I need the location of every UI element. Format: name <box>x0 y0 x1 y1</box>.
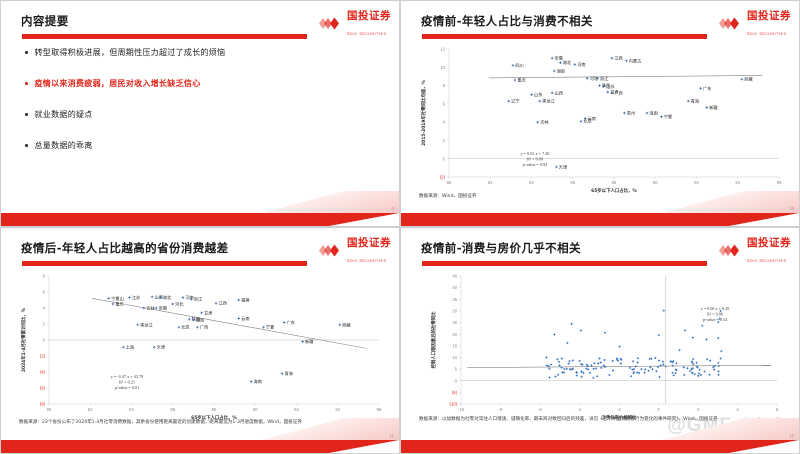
svg-text:北京: 北京 <box>181 324 189 331</box>
bullet-dot-icon <box>25 51 28 54</box>
footer-triangle <box>329 440 399 453</box>
svg-text:35: 35 <box>452 297 457 302</box>
svg-text:-4: -4 <box>578 407 582 412</box>
scatter-plot: 86420(2)(4)(6)(8)80828486889092949665岁以下… <box>15 270 387 420</box>
svg-text:-6: -6 <box>538 407 542 412</box>
svg-text:-2: -2 <box>617 407 621 412</box>
title-rule <box>22 261 307 266</box>
svg-text:80: 80 <box>447 180 452 185</box>
svg-text:江西: 江西 <box>614 55 622 62</box>
svg-text:黑龙江: 黑龙江 <box>140 321 153 328</box>
svg-text:(4): (4) <box>40 370 46 375</box>
svg-text:浙江: 浙江 <box>194 296 202 303</box>
svg-text:8: 8 <box>443 83 446 88</box>
svg-text:重庆: 重庆 <box>115 301 124 308</box>
footer-bar <box>401 440 799 453</box>
title-rule <box>422 34 707 39</box>
svg-text:6: 6 <box>443 101 446 106</box>
bullet-list: 转型取得积极进展，但周期性压力超过了成长的烦恼 疫情以来消费疲弱，居民对收入增长… <box>25 47 365 171</box>
svg-text:山西: 山西 <box>555 89 563 96</box>
svg-text:y = -0.47 x + 43.79: y = -0.47 x + 43.79 <box>111 374 143 379</box>
svg-text:西藏: 西藏 <box>744 76 753 83</box>
svg-text:湖南: 湖南 <box>196 317 204 324</box>
svg-text:西藏: 西藏 <box>342 321 351 328</box>
svg-text:92: 92 <box>294 407 299 412</box>
svg-text:吉林: 吉林 <box>146 305 155 312</box>
svg-text:96: 96 <box>377 407 382 412</box>
svg-text:10: 10 <box>452 355 457 360</box>
svg-text:p-value = 0.01: p-value = 0.01 <box>115 385 139 390</box>
svg-text:山东: 山东 <box>534 91 542 98</box>
svg-text:92: 92 <box>694 180 699 185</box>
chart-pre-covid-housing: 454035302520151050(5)(10)-10-8-6-4-20246… <box>415 270 787 420</box>
svg-text:(5): (5) <box>452 390 458 395</box>
svg-text:江西: 江西 <box>218 300 226 307</box>
svg-text:86: 86 <box>170 407 175 412</box>
svg-text:重庆: 重庆 <box>517 77 526 84</box>
svg-text:R² = 0.00: R² = 0.00 <box>527 157 543 162</box>
footer-swash <box>654 191 799 213</box>
svg-text:控制人口等因素后的社零同比: 控制人口等因素后的社零同比 <box>430 311 437 369</box>
svg-text:y = 0.02 x + 7.20: y = 0.02 x + 7.20 <box>521 151 550 156</box>
slide-pre-covid-housing[interactable]: 疫情前-消费与房价几乎不相关 国投证券 SDIC SECURITIES 4540… <box>400 227 800 454</box>
svg-text:上海: 上海 <box>126 344 135 351</box>
svg-text:广西: 广西 <box>614 89 622 96</box>
page-number: 12 <box>789 433 794 438</box>
svg-text:6: 6 <box>43 290 46 295</box>
logo-en: SDIC SECURITIES <box>347 259 386 263</box>
footer-swash <box>654 418 799 440</box>
list-item: 总量数据的乖离 <box>25 140 365 151</box>
sdic-diamond-icon <box>317 16 343 31</box>
svg-text:p-value = 0.54: p-value = 0.54 <box>703 317 728 322</box>
svg-text:新疆: 新疆 <box>305 338 313 345</box>
brand-logo: 国投证券 SDIC SECURITIES <box>317 234 391 266</box>
svg-text:96: 96 <box>777 180 782 185</box>
svg-text:北京: 北京 <box>583 118 591 125</box>
logo-text: 国投证券 SDIC SECURITIES <box>347 234 391 266</box>
bullet-text: 总量数据的乖离 <box>35 140 93 151</box>
svg-text:云南: 云南 <box>241 315 249 322</box>
svg-text:宁夏: 宁夏 <box>664 113 673 119</box>
bullet-text: 疫情以来消费疲弱，居民对收入增长缺乏信心 <box>35 78 201 89</box>
svg-text:10: 10 <box>440 65 445 70</box>
slide-grid: 内容提要 国投证券 SDIC SECURITIES 转型取得积 <box>0 0 800 454</box>
svg-text:-8: -8 <box>499 407 503 412</box>
svg-text:海南: 海南 <box>649 110 657 117</box>
chart-pre-covid-youth: 121086420(2)80828486889092949665岁以下人口占比，… <box>415 43 787 193</box>
svg-text:河南: 河南 <box>577 61 585 67</box>
list-item: 转型取得积极进展，但周期性压力超过了成长的烦恼 <box>25 47 365 58</box>
svg-text:0: 0 <box>43 338 46 343</box>
list-item: 疫情以来消费疲弱，居民对收入增长缺乏信心 <box>25 78 365 89</box>
svg-text:吉林: 吉林 <box>540 119 549 126</box>
svg-text:四川: 四川 <box>515 63 523 68</box>
svg-text:浙江: 浙江 <box>600 75 608 82</box>
svg-text:2015-2019年社零同比均值，%: 2015-2019年社零同比均值，% <box>420 80 427 146</box>
svg-text:5: 5 <box>455 367 458 372</box>
brand-logo: 国投证券 SDIC SECURITIES <box>717 234 791 266</box>
svg-text:90: 90 <box>253 407 258 412</box>
svg-text:30: 30 <box>452 309 457 314</box>
footer-bar <box>401 213 799 226</box>
logo-text: 国投证券 SDIC SECURITIES <box>747 234 791 266</box>
svg-text:贵州: 贵州 <box>627 110 635 117</box>
logo-cn: 国投证券 <box>747 10 791 22</box>
svg-text:82: 82 <box>488 180 493 185</box>
page-title: 疫情后-年轻人占比越高的省份消费越差 <box>21 240 228 256</box>
brand-logo: 国投证券 SDIC SECURITIES <box>317 7 391 39</box>
svg-text:4: 4 <box>43 306 46 311</box>
svg-text:天津: 天津 <box>559 163 567 170</box>
svg-text:湖北: 湖北 <box>163 294 172 301</box>
svg-text:0: 0 <box>657 407 660 412</box>
svg-text:广东: 广东 <box>703 85 711 92</box>
sdic-diamond-icon <box>717 16 743 31</box>
bullet-text: 转型取得积极进展，但周期性压力超过了成长的烦恼 <box>35 47 226 58</box>
svg-text:88: 88 <box>612 180 617 185</box>
scatter-plot: 454035302520151050(5)(10)-10-8-6-4-20246… <box>415 270 787 420</box>
svg-text:2: 2 <box>443 138 446 143</box>
svg-text:2: 2 <box>43 322 46 327</box>
svg-text:15: 15 <box>452 343 457 348</box>
page-number: 11 <box>389 433 394 438</box>
svg-text:湖北: 湖北 <box>563 59 572 66</box>
svg-text:河北: 河北 <box>175 301 184 308</box>
svg-text:0: 0 <box>455 378 458 383</box>
svg-text:广东: 广东 <box>287 319 295 326</box>
svg-text:内蒙古: 内蒙古 <box>629 57 642 64</box>
footer-triangle <box>329 213 399 226</box>
bullet-dot-icon <box>25 144 28 147</box>
logo-cn: 国投证券 <box>347 237 391 249</box>
svg-text:宁夏: 宁夏 <box>266 324 275 330</box>
svg-text:94: 94 <box>335 407 340 412</box>
list-item: 就业数据的疑点 <box>25 109 365 120</box>
svg-text:青海: 青海 <box>284 370 293 377</box>
svg-text:y = 0.06 x + 6.29: y = 0.06 x + 6.29 <box>701 306 730 311</box>
page-title: 疫情前-消费与房价几乎不相关 <box>421 240 581 256</box>
svg-text:(6): (6) <box>40 386 46 391</box>
page-title: 内容提要 <box>21 13 69 29</box>
sdic-diamond-icon <box>717 243 743 258</box>
svg-text:安徽: 安徽 <box>159 305 168 312</box>
svg-text:天津: 天津 <box>157 344 165 351</box>
footer-bar <box>1 440 399 453</box>
logo-cn: 国投证券 <box>747 237 791 249</box>
svg-text:黑龙江: 黑龙江 <box>542 98 555 105</box>
svg-text:90: 90 <box>653 180 658 185</box>
scatter-plot: 121086420(2)80828486889092949665岁以下人口占比，… <box>415 43 787 193</box>
svg-text:R² = 0.00: R² = 0.00 <box>707 312 723 317</box>
svg-text:(10): (10) <box>450 402 458 407</box>
svg-text:94: 94 <box>735 180 740 185</box>
svg-text:6: 6 <box>776 407 779 412</box>
footer-triangle <box>729 440 799 453</box>
footer-triangle <box>729 213 799 226</box>
svg-text:青海: 青海 <box>691 98 700 105</box>
logo-en: SDIC SECURITIES <box>747 259 786 263</box>
footer-swash <box>254 191 399 213</box>
svg-text:20: 20 <box>452 332 457 337</box>
svg-text:(2): (2) <box>440 175 446 180</box>
svg-text:4: 4 <box>443 120 446 125</box>
svg-text:甘肃: 甘肃 <box>204 309 212 316</box>
logo-text: 国投证券 SDIC SECURITIES <box>347 7 391 39</box>
footer-bar <box>1 213 399 226</box>
svg-text:(8): (8) <box>40 402 46 407</box>
svg-text:45: 45 <box>452 274 457 279</box>
svg-text:40: 40 <box>452 285 457 290</box>
svg-text:江苏: 江苏 <box>132 294 140 301</box>
svg-text:-10: -10 <box>458 407 465 412</box>
svg-text:65岁以下人口占比，%: 65岁以下人口占比，% <box>591 187 637 193</box>
logo-en: SDIC SECURITIES <box>347 32 386 36</box>
svg-text:4: 4 <box>736 407 739 412</box>
slide-pre-covid-youth[interactable]: 疫情前-年轻人占比与消费不相关 国投证券 SDIC SECURITIES 121… <box>400 0 800 227</box>
svg-text:80: 80 <box>47 407 52 412</box>
svg-text:2024年1-4月社零累计同比，%: 2024年1-4月社零累计同比，% <box>20 307 27 372</box>
bullet-dot-icon <box>25 113 28 116</box>
logo-text: 国投证券 SDIC SECURITIES <box>747 7 791 39</box>
svg-text:0: 0 <box>443 156 446 161</box>
svg-text:2: 2 <box>697 407 700 412</box>
svg-text:海南: 海南 <box>254 378 262 385</box>
svg-text:25: 25 <box>452 320 457 325</box>
svg-text:8: 8 <box>43 274 46 279</box>
svg-text:R² = 0.21: R² = 0.21 <box>119 380 135 385</box>
title-rule <box>22 34 307 39</box>
svg-text:84: 84 <box>129 407 134 412</box>
svg-text:p-value = 0.92: p-value = 0.92 <box>523 162 547 167</box>
brand-logo: 国投证券 SDIC SECURITIES <box>717 7 791 39</box>
svg-text:86: 86 <box>570 180 575 185</box>
footer-swash <box>254 418 399 440</box>
logo-cn: 国投证券 <box>347 10 391 22</box>
page-number: 16 <box>789 206 794 211</box>
chart-post-covid-youth: 86420(2)(4)(6)(8)80828486889092949665岁以下… <box>15 270 387 420</box>
bullet-dot-icon <box>25 82 28 85</box>
svg-text:84: 84 <box>529 180 534 185</box>
slide-post-covid-youth[interactable]: 疫情后-年轻人占比越高的省份消费越差 国投证券 SDIC SECURITIES … <box>0 227 400 454</box>
logo-en: SDIC SECURITIES <box>747 32 786 36</box>
svg-text:湖南: 湖南 <box>557 67 565 74</box>
svg-text:福建: 福建 <box>241 297 250 304</box>
page-number: 3 <box>391 206 394 211</box>
svg-text:辽宁: 辽宁 <box>511 98 519 105</box>
svg-text:12: 12 <box>440 47 445 52</box>
svg-text:广西: 广西 <box>200 324 208 331</box>
svg-text:82: 82 <box>88 407 93 412</box>
svg-text:新疆: 新疆 <box>709 104 717 111</box>
title-rule <box>422 261 707 266</box>
svg-text:山西: 山西 <box>155 293 163 300</box>
sdic-diamond-icon <box>317 243 343 258</box>
slide-outline[interactable]: 内容提要 国投证券 SDIC SECURITIES 转型取得积 <box>0 0 400 227</box>
bullet-text: 就业数据的疑点 <box>35 109 93 120</box>
svg-text:88: 88 <box>212 407 217 412</box>
svg-text:(2): (2) <box>40 354 46 359</box>
page-title: 疫情前-年轻人占比与消费不相关 <box>421 13 593 29</box>
